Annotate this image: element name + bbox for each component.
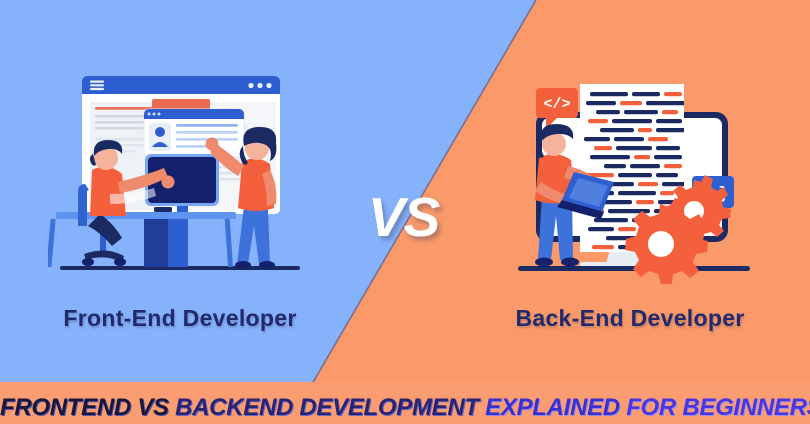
back-end-developer-illustration: </> { } <box>508 66 758 288</box>
code-line-bar <box>618 173 652 177</box>
code-line-bar <box>664 92 682 96</box>
code-line-bar <box>660 191 674 195</box>
banner-root: </> { } <box>0 0 810 424</box>
code-line-bar <box>630 164 660 168</box>
front-end-developer-illustration <box>48 66 308 288</box>
headline-word: FRONTEND <box>0 394 131 422</box>
three-dots-icon <box>248 83 271 88</box>
caption-back-end: Back-End Developer <box>470 305 790 332</box>
headline-word: BACKEND <box>175 394 293 422</box>
hamburger-icon <box>90 81 104 91</box>
code-line-bar <box>664 164 682 168</box>
headline-word: DEVELOPMENT <box>299 394 478 422</box>
desk <box>48 207 236 267</box>
caption-front-end: Front-End Developer <box>20 305 340 332</box>
headline-word: BEGINNERS <box>682 394 810 422</box>
code-line-bar <box>616 146 652 150</box>
code-line-bar <box>612 119 652 123</box>
code-line-bar <box>638 128 652 132</box>
code-line-bar <box>618 191 656 195</box>
code-line-bar <box>632 92 660 96</box>
code-line-bar <box>614 137 644 141</box>
user-avatar-icon <box>149 123 171 151</box>
headline-word: FOR <box>626 394 676 422</box>
code-line-bar <box>656 128 686 132</box>
code-tag-text: </> <box>543 96 570 113</box>
code-line-bar <box>656 173 678 177</box>
code-line-bar <box>646 101 690 105</box>
code-line-bar <box>604 164 626 168</box>
code-line-bar <box>656 146 680 150</box>
code-line-bar <box>588 227 614 231</box>
code-line-bar <box>662 110 678 114</box>
code-line-bar <box>618 227 636 231</box>
code-line-bar <box>596 110 620 114</box>
vs-label: VS <box>368 190 439 245</box>
code-line-bar <box>590 155 630 159</box>
code-line-bar <box>600 128 634 132</box>
headline-word: EXPLAINED <box>485 394 620 422</box>
code-line-bar <box>620 101 642 105</box>
code-line-bar <box>588 119 608 123</box>
code-line-bar <box>634 155 650 159</box>
code-line-bar <box>590 92 628 96</box>
code-line-bar <box>654 155 682 159</box>
code-line-bar <box>648 137 668 141</box>
code-line-bar <box>638 182 658 186</box>
headline-word: VS <box>137 394 168 422</box>
profile-card <box>144 109 244 157</box>
bottom-headline: FRONTEND VS BACKEND DEVELOPMENT EXPLAINE… <box>0 394 810 422</box>
code-line-bar <box>656 119 682 123</box>
code-line-bar <box>586 101 616 105</box>
code-line-bar <box>624 110 658 114</box>
code-line-bar <box>594 146 612 150</box>
code-line-bar <box>594 218 628 222</box>
code-line-bar <box>592 245 614 249</box>
code-line-bar <box>636 200 654 204</box>
code-line-bar <box>584 137 610 141</box>
